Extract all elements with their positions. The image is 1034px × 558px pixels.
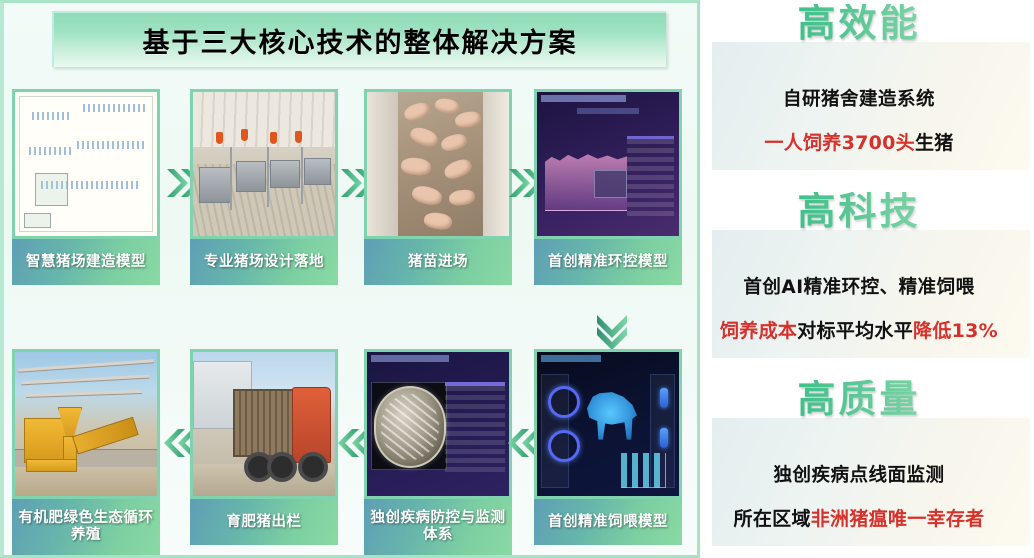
chevron-double-down-icon bbox=[590, 309, 634, 353]
kpi-metric-highlight: 一人饲养3700头 bbox=[764, 132, 915, 154]
thumbnail-ai-feeding-dashboard bbox=[534, 349, 682, 499]
title-bar: 基于三大核心技术的整体解决方案 bbox=[52, 11, 666, 67]
flow-card-label: 专业猪场设计落地 bbox=[190, 239, 338, 285]
kpi-metric: 一人饲养3700头生猪 bbox=[700, 128, 1018, 155]
right-panel: 高效能 自研猪舍建造系统 一人饲养3700头生猪 高科技 首创AI精准环控、精准… bbox=[700, 0, 1034, 558]
thumbnail-fertilizer-plant bbox=[12, 349, 160, 499]
flow-card-truck[interactable]: 育肥猪出栏 bbox=[190, 349, 338, 545]
flow-card-label: 有机肥绿色生态循环养殖 bbox=[12, 499, 160, 555]
flow-card-piglets[interactable]: 猪苗进场 bbox=[364, 89, 512, 285]
flow-card-ai-feeding[interactable]: 首创精准饲喂模型 bbox=[534, 349, 682, 545]
thumbnail-env-dashboard bbox=[534, 89, 682, 239]
flow-card-label: 首创精准饲喂模型 bbox=[534, 499, 682, 545]
thumbnail-piglets bbox=[364, 89, 512, 239]
page-title: 基于三大核心技术的整体解决方案 bbox=[143, 21, 578, 60]
flow-card-barn[interactable]: 专业猪场设计落地 bbox=[190, 89, 338, 285]
kpi-heading: 高质量 bbox=[700, 380, 1018, 418]
kpi-metric-tail-highlight: 降低13% bbox=[913, 320, 998, 342]
left-panel: 基于三大核心技术的整体解决方案 bbox=[0, 0, 700, 558]
kpi-metric-highlight: 饲养成本 bbox=[720, 320, 797, 342]
kpi-metric: 所在区域非洲猪瘟唯一幸存者 bbox=[700, 504, 1018, 531]
thumbnail-barn-interior bbox=[190, 89, 338, 239]
kpi-metric-tail: 生猪 bbox=[915, 132, 954, 154]
flow-card-label: 首创精准环控模型 bbox=[534, 239, 682, 285]
kpi-heading: 高效能 bbox=[700, 4, 1018, 42]
flow-card-fertilizer[interactable]: 有机肥绿色生态循环养殖 bbox=[12, 349, 160, 555]
kpi-metric-mid: 对标平均水平 bbox=[797, 320, 913, 342]
kpi-subtitle: 自研猪舍建造系统 bbox=[700, 85, 1018, 111]
kpi-subtitle: 独创疾病点线面监测 bbox=[700, 461, 1018, 487]
kpi-heading: 高科技 bbox=[700, 192, 1018, 230]
flow-card-label: 独创疾病防控与监测体系 bbox=[364, 499, 512, 555]
flow-card-label: 智慧猪场建造模型 bbox=[12, 239, 160, 285]
kpi-metric-highlight: 非洲猪瘟唯一幸存者 bbox=[811, 508, 985, 530]
kpi-metric: 饲养成本对标平均水平降低13% bbox=[700, 316, 1018, 343]
flow-card-label: 猪苗进场 bbox=[364, 239, 512, 285]
flow-card-lab-dashboard[interactable]: 独创疾病防控与监测体系 bbox=[364, 349, 512, 555]
thumbnail-lab-dashboard bbox=[364, 349, 512, 499]
process-flow: 智慧猪场建造模型 bbox=[4, 81, 704, 551]
flow-card-env-dashboard[interactable]: 首创精准环控模型 bbox=[534, 89, 682, 285]
flow-card-label: 育肥猪出栏 bbox=[190, 499, 338, 545]
kpi-subtitle: 首创AI精准环控、精准饲喂 bbox=[700, 273, 1018, 299]
kpi-metric-lead: 所在区域 bbox=[734, 508, 811, 530]
flow-card-blueprint[interactable]: 智慧猪场建造模型 bbox=[12, 89, 160, 285]
flow-row-top: 智慧猪场建造模型 bbox=[4, 89, 704, 289]
slide-root: 基于三大核心技术的整体解决方案 bbox=[0, 0, 1034, 558]
flow-row-bottom: 有机肥绿色生态循环养殖 bbox=[4, 349, 704, 549]
thumbnail-livestock-truck bbox=[190, 349, 338, 499]
thumbnail-blueprint bbox=[12, 89, 160, 239]
